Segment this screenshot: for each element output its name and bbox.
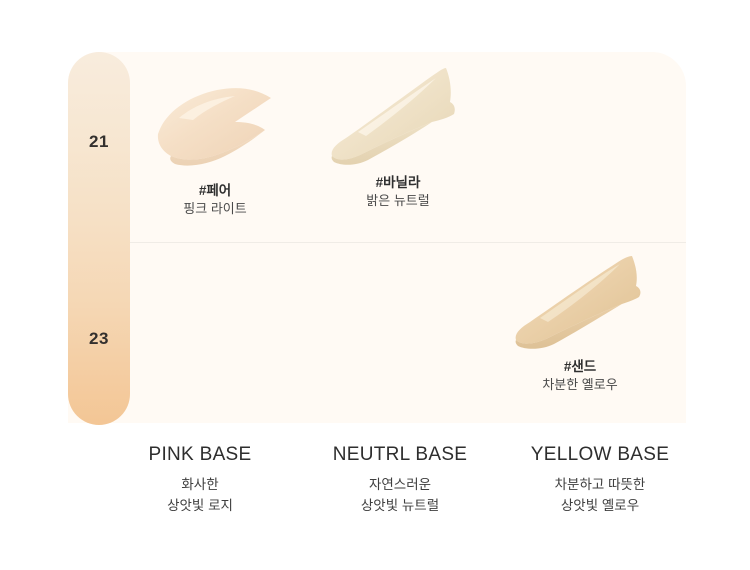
swatch-name-pear: #페어 [140,182,290,200]
base-family-pink: PINK BASE 화사한 상앗빛 로지 [100,443,300,517]
base-family-neutral: NEUTRL BASE 자연스러운 상앗빛 뉴트럴 [300,443,500,517]
base-family-title-neutral: NEUTRL BASE [300,443,500,468]
shade-scale-label-23: 23 [68,329,130,349]
base-family-subtitle-yellow: 차분하고 따뜻한 상앗빛 옐로우 [500,475,700,517]
swatch-description-vanilla: 밝은 뉴트럴 [318,192,478,210]
base-family-subtitle-neutral-line2: 상앗빛 뉴트럴 [300,496,500,517]
base-family-subtitle-pink-line2: 상앗빛 로지 [100,496,300,517]
swatch-labels-sand: #샌드 차분한 옐로우 [500,358,660,394]
swatch-art-vanilla [328,60,468,172]
swatch-group-pear: #페어 핑크 라이트 [140,78,290,218]
base-family-subtitle-pink: 화사한 상앗빛 로지 [100,475,300,517]
shade-depth-scale: 21 23 [68,52,130,425]
shade-row-divider [120,242,686,243]
base-family-yellow: YELLOW BASE 차분하고 따뜻한 상앗빛 옐로우 [500,443,700,517]
swatch-description-pear: 핑크 라이트 [140,200,290,218]
base-family-subtitle-neutral-line1: 자연스러운 [300,475,500,496]
base-family-subtitle-yellow-line1: 차분하고 따뜻한 [500,475,700,496]
swatch-name-sand: #샌드 [500,358,660,376]
base-family-subtitle-pink-line1: 화사한 [100,475,300,496]
base-family-subtitle-neutral: 자연스러운 상앗빛 뉴트럴 [300,475,500,517]
base-family-legend: PINK BASE 화사한 상앗빛 로지 NEUTRL BASE 자연스러운 상… [60,443,710,517]
swatch-group-sand: #샌드 차분한 옐로우 [500,252,660,394]
swatch-art-sand [510,252,650,352]
base-family-subtitle-yellow-line2: 상앗빛 옐로우 [500,496,700,517]
swatch-art-pear [155,78,275,176]
base-family-title-pink: PINK BASE [100,443,300,468]
swatch-labels-pear: #페어 핑크 라이트 [140,182,290,218]
base-family-title-yellow: YELLOW BASE [500,443,700,468]
swatch-labels-vanilla: #바닐라 밝은 뉴트럴 [318,174,478,210]
shade-scale-label-21: 21 [68,132,130,152]
swatch-name-vanilla: #바닐라 [318,174,478,192]
swatch-group-vanilla: #바닐라 밝은 뉴트럴 [318,60,478,210]
swatch-description-sand: 차분한 옐로우 [500,376,660,394]
